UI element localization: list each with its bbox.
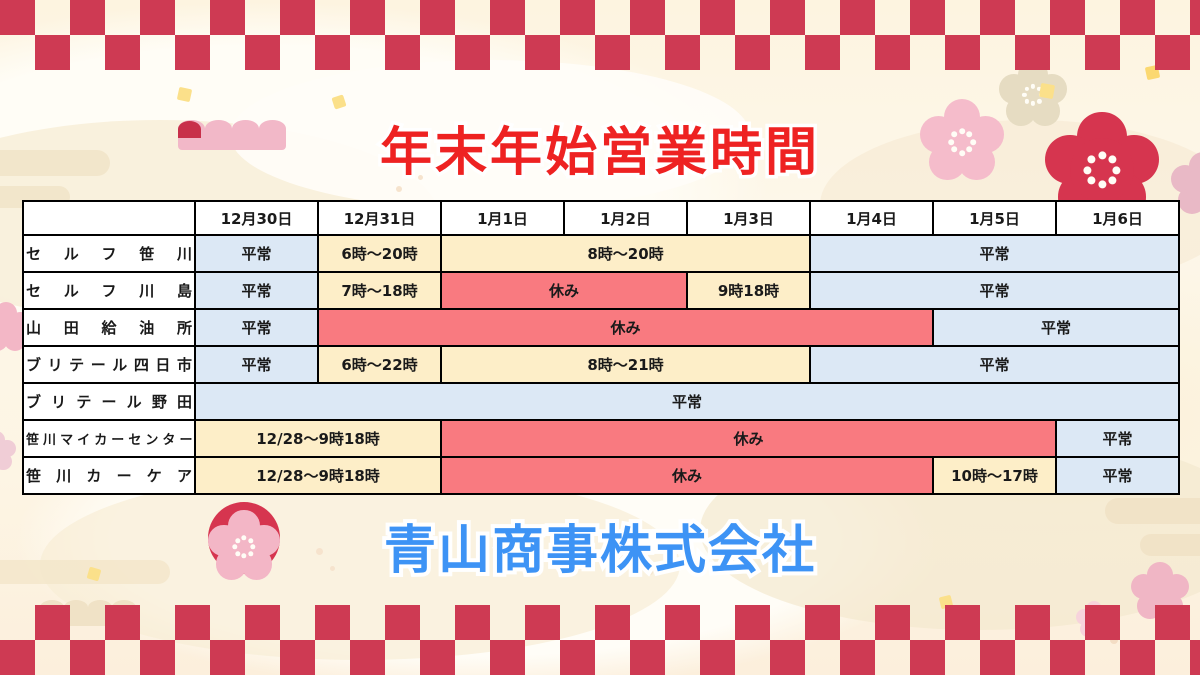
checker-square (280, 640, 315, 675)
checker-square (105, 35, 140, 70)
column-header-7: 1月5日 (933, 201, 1056, 235)
checker-square (595, 35, 630, 70)
schedule-cell: 9時18時 (687, 272, 810, 309)
schedule-cell: 平常 (810, 346, 1179, 383)
checker-square (455, 35, 490, 70)
store-name-label: 笹川カーケア (26, 465, 192, 486)
store-name-label: ブリテール四日市 (26, 354, 192, 375)
checker-square (805, 605, 840, 640)
checker-square (455, 605, 490, 640)
schedule-cell: 平常 (195, 235, 318, 272)
schedule-cell: 平常 (933, 309, 1179, 346)
checker-square (1190, 640, 1200, 675)
store-name-label: セルフ笹川 (26, 243, 192, 264)
schedule-cell: 12/28～9時18時 (195, 420, 441, 457)
schedule-cell: 10時～17時 (933, 457, 1056, 494)
checker-square (875, 35, 910, 70)
checker-square (1015, 605, 1050, 640)
checker-square (665, 35, 700, 70)
page-title: 年末年始営業時間 (0, 110, 1200, 185)
checker-square (245, 35, 280, 70)
checker-square (630, 640, 665, 675)
checker-square (1155, 35, 1190, 70)
store-name-cell: セルフ川島 (23, 272, 195, 309)
checker-square (980, 640, 1015, 675)
checker-square (210, 640, 245, 675)
table-row: 山田給油所平常休み平常 (23, 309, 1179, 346)
checker-square (0, 640, 35, 675)
checker-square (385, 35, 420, 70)
checker-square (1120, 640, 1155, 675)
checker-square (770, 0, 805, 35)
checker-square (525, 605, 560, 640)
column-header-4: 1月2日 (564, 201, 687, 235)
store-name-cell: 笹川マイカーセンター (23, 420, 195, 457)
table-row: セルフ笹川平常6時～20時8時～20時平常 (23, 235, 1179, 272)
checker-square (245, 605, 280, 640)
checker-square (700, 640, 735, 675)
schedule-cell: 6時～20時 (318, 235, 441, 272)
checker-square (560, 640, 595, 675)
checker-square (140, 0, 175, 35)
checker-square (420, 0, 455, 35)
schedule-table: 12月30日12月31日1月1日1月2日1月3日1月4日1月5日1月6日 セルフ… (22, 200, 1180, 495)
checker-square (0, 0, 35, 35)
checker-square (735, 35, 770, 70)
schedule-cell: 平常 (195, 309, 318, 346)
checker-square (945, 605, 980, 640)
company-name: 青山商事株式会社 (0, 508, 1200, 583)
checker-square (595, 605, 630, 640)
checker-square (210, 0, 245, 35)
column-header-6: 1月4日 (810, 201, 933, 235)
schedule-cell: 平常 (810, 272, 1179, 309)
checker-square (70, 0, 105, 35)
checker-square (385, 605, 420, 640)
checker-square (1050, 640, 1085, 675)
table-row: ブリテール四日市平常6時～22時8時～21時平常 (23, 346, 1179, 383)
checker-square (910, 640, 945, 675)
checker-square (735, 605, 770, 640)
schedule-cell: 6時～22時 (318, 346, 441, 383)
checker-square (490, 0, 525, 35)
checker-square (175, 35, 210, 70)
checker-square (700, 0, 735, 35)
checker-square (35, 35, 70, 70)
store-name-cell: 笹川カーケア (23, 457, 195, 494)
table-row: ブリテール野田平常 (23, 383, 1179, 420)
checker-square (945, 35, 980, 70)
checker-square (1050, 0, 1085, 35)
schedule-cell: 12/28～9時18時 (195, 457, 441, 494)
schedule-cell: 8時～20時 (441, 235, 810, 272)
schedule-table-wrapper: 12月30日12月31日1月1日1月2日1月3日1月4日1月5日1月6日 セルフ… (22, 200, 1178, 495)
checker-square (175, 605, 210, 640)
table-row: セルフ川島平常7時～18時休み9時18時平常 (23, 272, 1179, 309)
checker-square (35, 605, 70, 640)
checker-square (840, 0, 875, 35)
checker-square (315, 35, 350, 70)
store-name-cell: ブリテール野田 (23, 383, 195, 420)
column-header-8: 1月6日 (1056, 201, 1179, 235)
schedule-cell: 休み (318, 309, 933, 346)
checker-square (560, 0, 595, 35)
checkerboard-top-border (0, 0, 1200, 70)
table-row: 笹川マイカーセンター12/28～9時18時休み平常 (23, 420, 1179, 457)
checker-square (665, 605, 700, 640)
schedule-cell: 平常 (1056, 420, 1179, 457)
schedule-table-body: セルフ笹川平常6時～20時8時～20時平常セルフ川島平常7時～18時休み9時18… (23, 235, 1179, 494)
checker-square (630, 0, 665, 35)
checker-square (1190, 0, 1200, 35)
checker-square (770, 640, 805, 675)
checker-square (840, 640, 875, 675)
checker-square (1015, 35, 1050, 70)
checker-square (525, 35, 560, 70)
schedule-cell: 平常 (1056, 457, 1179, 494)
checker-square (490, 640, 525, 675)
column-header-2: 12月31日 (318, 201, 441, 235)
store-name-label: ブリテール野田 (26, 391, 192, 412)
column-header-3: 1月1日 (441, 201, 564, 235)
checker-square (910, 0, 945, 35)
checkerboard-bottom-border (0, 605, 1200, 675)
checker-square (1085, 35, 1120, 70)
store-name-cell: セルフ笹川 (23, 235, 195, 272)
store-name-cell: 山田給油所 (23, 309, 195, 346)
schedule-cell: 休み (441, 420, 1056, 457)
checker-square (315, 605, 350, 640)
poster-canvas: 年末年始営業時間 12月30日12月31日1月1日1月2日1月3日1月4日1月5… (0, 0, 1200, 675)
schedule-cell: 8時～21時 (441, 346, 810, 383)
checker-square (875, 605, 910, 640)
schedule-cell: 平常 (195, 346, 318, 383)
store-name-label: 笹川マイカーセンター (26, 429, 192, 448)
table-row: 笹川カーケア12/28～9時18時休み10時～17時平常 (23, 457, 1179, 494)
checker-square (1155, 605, 1190, 640)
table-corner-cell (23, 201, 195, 235)
checker-square (105, 605, 140, 640)
store-name-label: 山田給油所 (26, 317, 192, 338)
checker-square (980, 0, 1015, 35)
schedule-cell: 平常 (810, 235, 1179, 272)
schedule-cell: 休み (441, 272, 687, 309)
checker-square (350, 640, 385, 675)
schedule-cell: 平常 (195, 272, 318, 309)
checker-square (1120, 0, 1155, 35)
store-name-label: セルフ川島 (26, 280, 192, 301)
schedule-table-head: 12月30日12月31日1月1日1月2日1月3日1月4日1月5日1月6日 (23, 201, 1179, 235)
schedule-cell: 平常 (195, 383, 1179, 420)
checker-square (70, 640, 105, 675)
checker-square (420, 640, 455, 675)
checker-square (805, 35, 840, 70)
store-name-cell: ブリテール四日市 (23, 346, 195, 383)
schedule-cell: 休み (441, 457, 933, 494)
checker-square (1085, 605, 1120, 640)
checker-square (280, 0, 315, 35)
column-header-1: 12月30日 (195, 201, 318, 235)
checker-square (140, 640, 175, 675)
table-header-row: 12月30日12月31日1月1日1月2日1月3日1月4日1月5日1月6日 (23, 201, 1179, 235)
column-header-5: 1月3日 (687, 201, 810, 235)
schedule-cell: 7時～18時 (318, 272, 441, 309)
checker-square (350, 0, 385, 35)
